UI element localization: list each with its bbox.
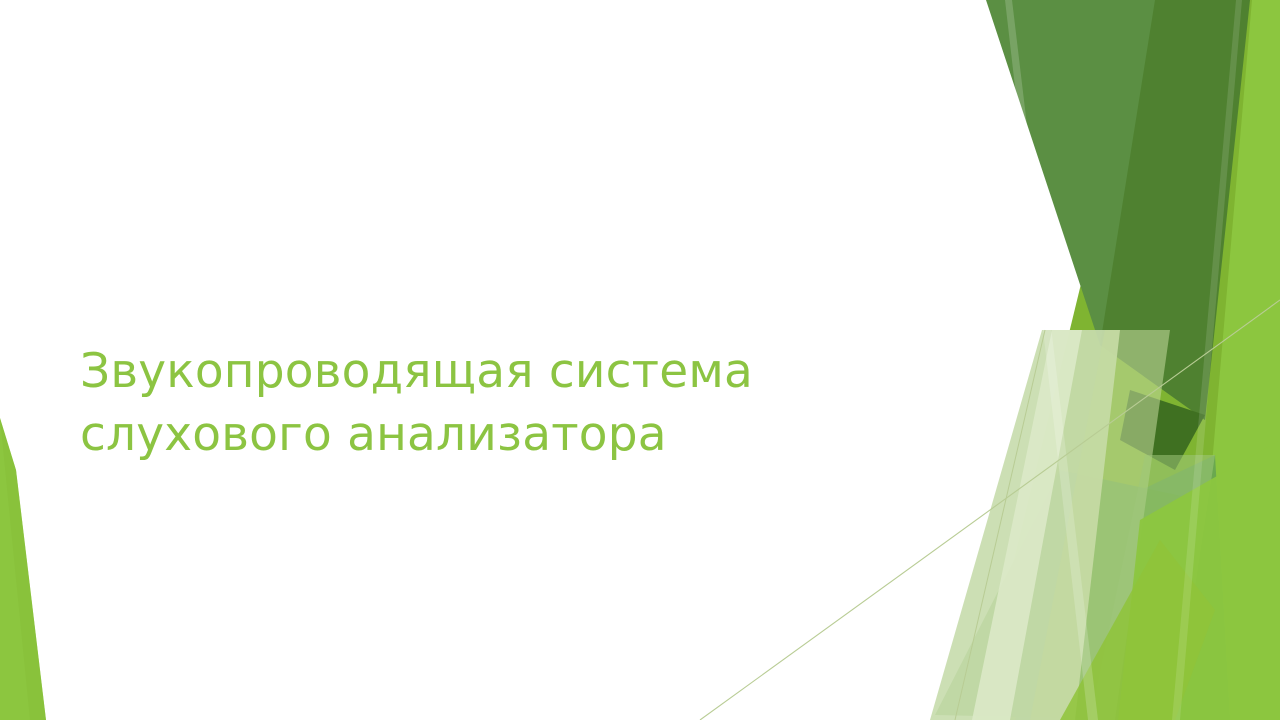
facet-pale-overlay xyxy=(1030,330,1170,720)
facet-lime-bottom xyxy=(1060,540,1215,720)
slide-canvas: Звукопроводящая система слухового анализ… xyxy=(0,0,1280,720)
facet-dark-v xyxy=(1100,0,1250,420)
facet-green-slab xyxy=(935,470,1200,720)
facet-bright-band xyxy=(975,0,1252,720)
diagonal-hairline-secondary xyxy=(955,330,1045,720)
facet-lime-lower xyxy=(1118,440,1280,720)
facet-deep-notch xyxy=(1120,390,1205,470)
facet-seam-b xyxy=(1172,0,1242,720)
facet-mid-lower xyxy=(1015,455,1230,720)
facet-seam-a xyxy=(1005,0,1098,720)
title-placeholder[interactable]: Звукопроводящая система слухового анализ… xyxy=(80,340,890,466)
facet-pale-sheet xyxy=(930,330,1120,720)
facet-pale-sliver xyxy=(972,330,1082,720)
facet-blade xyxy=(1090,455,1215,720)
facet-bright-right xyxy=(1178,0,1280,720)
page-title[interactable]: Звукопроводящая система слухового анализ… xyxy=(80,340,890,466)
facet-medium-top xyxy=(986,0,1205,420)
